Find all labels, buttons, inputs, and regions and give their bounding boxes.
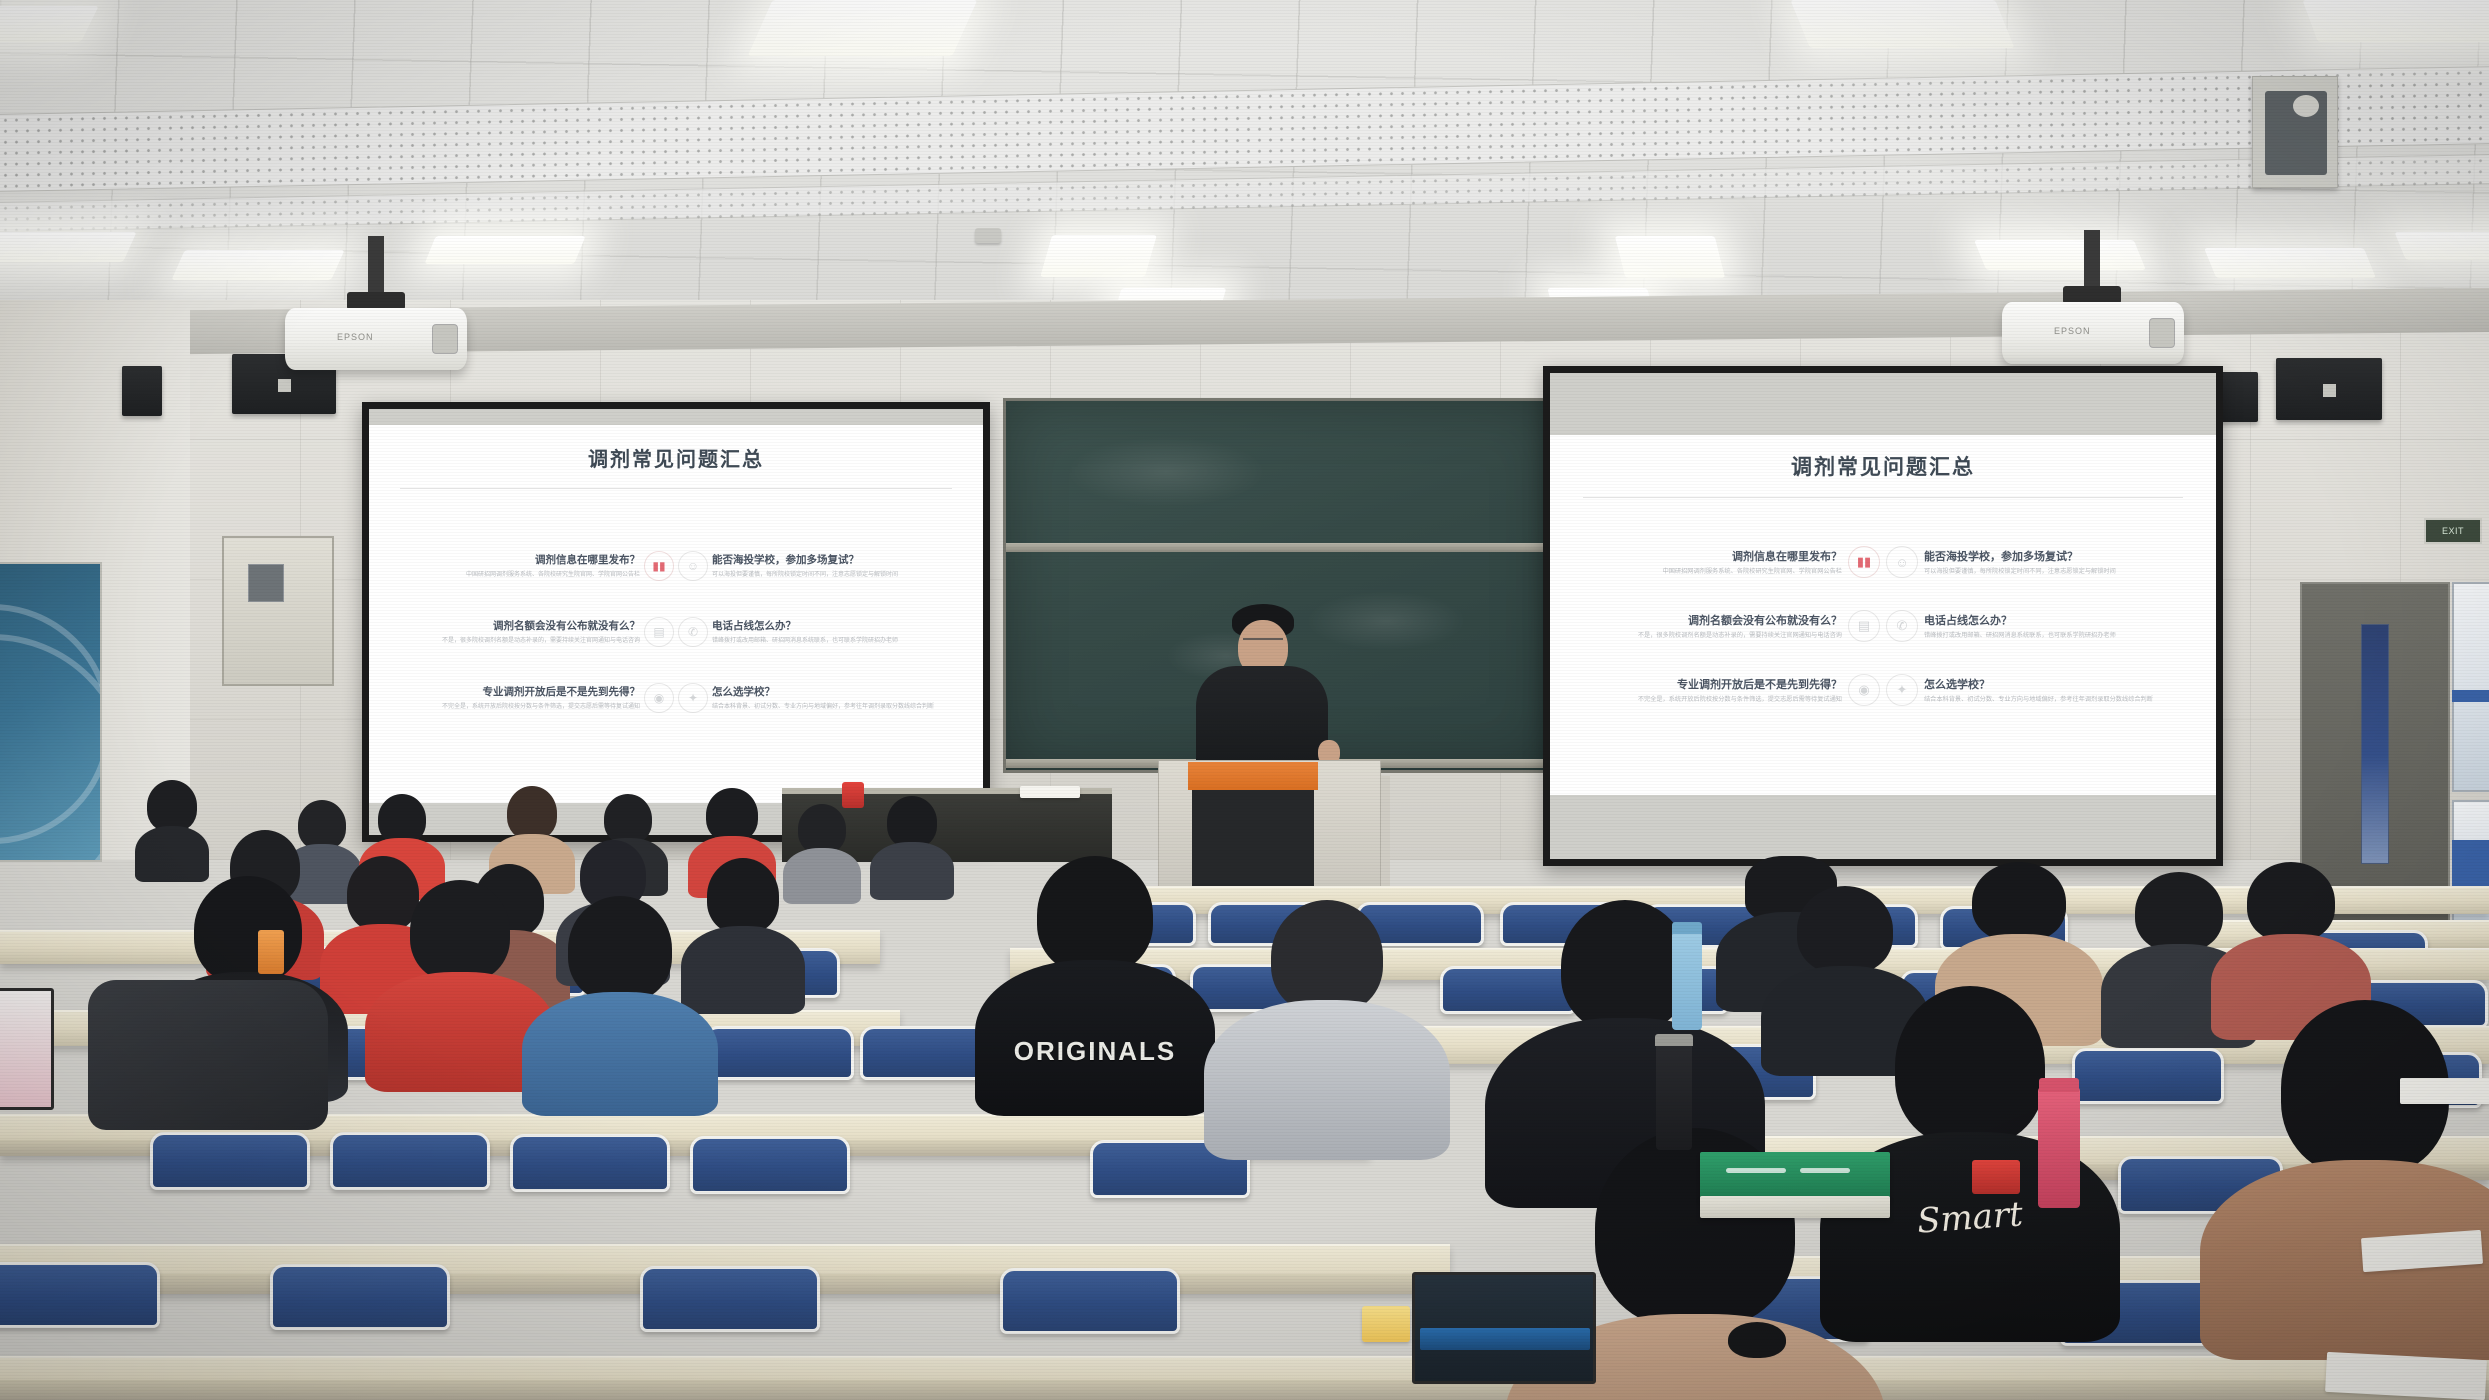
desk-row: [0, 1356, 2489, 1400]
jacket-script-text: Smart: [1916, 1194, 2024, 1241]
panel-meter: [248, 564, 285, 602]
chair[interactable]: [330, 1132, 490, 1190]
water-bottle-pink[interactable]: [2038, 1086, 2080, 1208]
audience-member: [2236, 862, 2346, 1022]
head: [798, 804, 846, 854]
hoodie-graphic-text: ORIGINALS: [1014, 1036, 1176, 1067]
compass-icon: ✦: [1886, 674, 1918, 706]
laptop-keyboard[interactable]: [1420, 1328, 1590, 1350]
ceiling-light-panel: [2302, 0, 2489, 42]
projector-brand-label: EPSON: [337, 332, 374, 342]
slide-question: 专业调剂开放后是不是先到先得？: [1576, 676, 1842, 692]
torso: [681, 926, 805, 1014]
corridor-railing: [2452, 690, 2489, 702]
clipboard-chart-icon: ▤: [644, 617, 674, 647]
backpack: [88, 980, 328, 1130]
clipboard-chart-icon: ▤: [1848, 610, 1880, 642]
snack-pack[interactable]: [1362, 1306, 1410, 1342]
exit-sign-label: EXIT: [2442, 526, 2464, 536]
slide-divider: [1583, 497, 2182, 498]
slide-detail: 不完全是，系统开放后院校按分数与条件筛选，提交志愿后需等待复试通知: [391, 703, 640, 712]
head: [378, 794, 426, 844]
projection-screen-right: 调剂常见问题汇总 调剂信息在哪里发布？ 中国研招网调剂服务系统、各院校研究生院官…: [1543, 366, 2223, 866]
slide-detail: 可以海投但要谨慎，每所院校锁定时间不同，注意志愿锁定与解锁时间: [712, 571, 961, 580]
slide-row: 调剂信息在哪里发布？ 中国研招网调剂服务系统、各院校研究生院官网、学院官网公告栏…: [1550, 546, 2216, 578]
audience-member: [560, 896, 680, 1086]
slide-detail: 不完全是，系统开放后院校按分数与条件筛选，提交志愿后需等待复试通知: [1576, 696, 1842, 705]
camera-body: [2265, 91, 2327, 175]
torso: [522, 992, 718, 1116]
slide-left: 调剂常见问题汇总 调剂信息在哪里发布？ 中国研招网调剂服务系统、各院校研究生院官…: [369, 425, 983, 803]
slide-detail: 可以海投但要谨慎，每所院校锁定时间不同，注意志愿锁定与解锁时间: [1924, 568, 2190, 577]
head: [568, 896, 672, 1002]
red-cup[interactable]: [1972, 1160, 2020, 1194]
audience-member: [790, 804, 854, 900]
podium-top-panel: [1188, 762, 1318, 790]
ceiling-light-panel: [1040, 235, 1157, 277]
head: [1895, 986, 2045, 1146]
ceiling-light-panel: [0, 232, 137, 262]
audience-member-originals: ORIGINALS: [1020, 856, 1170, 1076]
electrical-panel: [222, 536, 334, 686]
head: [1972, 862, 2066, 942]
chair[interactable]: [1000, 1268, 1180, 1334]
notebook-stack[interactable]: [1700, 1196, 1890, 1218]
smoke-detector-icon: [975, 228, 1001, 243]
projector-brand-label: EPSON: [2054, 326, 2091, 336]
slide-detail: 中国研招网调剂服务系统、各院校研究生院官网、学院官网公告栏: [1576, 568, 1842, 577]
head: [1037, 856, 1153, 974]
ceiling-light-panel: [1615, 236, 1725, 278]
bottle-cap: [1672, 922, 1702, 934]
audience-member: [700, 858, 786, 988]
camera-lens-icon: [2293, 95, 2319, 117]
screen-surface-left: 调剂常见问题汇总 调剂信息在哪里发布？ 中国研招网调剂服务系统、各院校研究生院官…: [369, 409, 983, 835]
blue-wall-poster: [0, 562, 102, 862]
slide-detail: 结合本科背景、初试分数、专业方向与地域偏好，参考往年调剂录取分数线综合判断: [1924, 696, 2190, 705]
ceiling-light-panel: [1974, 240, 2146, 270]
audience-member: Smart: [1880, 986, 2060, 1286]
laptop-screen-left[interactable]: [0, 988, 54, 1110]
chair[interactable]: [640, 1266, 820, 1332]
chart-bar-icon: ▮▮: [644, 551, 674, 581]
papers-on-desk[interactable]: [2325, 1352, 2487, 1400]
chalk-rail: [1006, 543, 1552, 552]
ceiling-camera: [2252, 76, 2338, 188]
audience-member: [1252, 900, 1402, 1120]
dot-circle-icon: ◉: [644, 683, 674, 713]
slide-right: 调剂常见问题汇总 调剂信息在哪里发布？ 中国研招网调剂服务系统、各院校研究生院官…: [1550, 435, 2216, 795]
slide-question: 能否海投学校，参加多场复试？: [712, 552, 961, 567]
ceiling-light-panel: [171, 250, 344, 280]
audience-member: [880, 796, 944, 892]
head: [1271, 900, 1383, 1014]
slide-question: 调剂名额会没有公布就没有么？: [391, 618, 640, 633]
slide-row: 专业调剂开放后是不是先到先得？ 不完全是，系统开放后院校按分数与条件筛选，提交志…: [1550, 674, 2216, 706]
chair[interactable]: [2072, 1048, 2224, 1104]
head: [887, 796, 937, 848]
slide-detail: 不是，很多院校调剂名额是动态补录的，需要持续关注官网通知与电话咨询: [391, 637, 640, 646]
torso: [1204, 1000, 1450, 1160]
chair[interactable]: [150, 1132, 310, 1190]
slide-row: 调剂名额会没有公布就没有么？ 不是，很多院校调剂名额是动态补录的，需要持续关注官…: [369, 617, 983, 647]
head: [707, 858, 779, 934]
torso: [870, 842, 954, 900]
slide-title: 调剂常见问题汇总: [369, 443, 983, 472]
smiley-icon: ☺: [678, 551, 708, 581]
slide-question: 电话占线怎么办？: [712, 618, 961, 633]
podium-side-wing: [1381, 776, 1390, 902]
slide-question: 调剂信息在哪里发布？: [1576, 548, 1842, 564]
head: [1797, 886, 1893, 974]
head: [706, 788, 758, 842]
projection-screen-left: 调剂常见问题汇总 调剂信息在哪里发布？ 中国研招网调剂服务系统、各院校研究生院官…: [362, 402, 990, 842]
phone-ringing-icon: ✆: [1886, 610, 1918, 642]
torso: [135, 826, 209, 882]
head: [507, 786, 557, 840]
bottle-cap: [2039, 1078, 2079, 1092]
chalk-smudge: [1066, 437, 1266, 507]
head: [1561, 900, 1689, 1032]
thermos-black[interactable]: [1656, 1040, 1692, 1150]
projector-mount-rod: [368, 236, 384, 294]
head: [2135, 872, 2223, 952]
slide-question: 能否海投学校，参加多场复试？: [1924, 548, 2190, 564]
wall-speaker: [2218, 372, 2258, 422]
slide-detail: 错峰拨打或改用邮箱、研招网消息系统联系，也可联系学院研招办老师: [712, 637, 961, 646]
papers-on-desk[interactable]: [1020, 786, 1080, 798]
head: [2247, 862, 2335, 942]
ceiling-light-panel: [2204, 248, 2376, 278]
slide-divider: [400, 488, 953, 489]
audience-member: [140, 780, 204, 876]
ceiling-light-panel: [2394, 232, 2489, 260]
head: [410, 880, 510, 982]
head: [604, 794, 652, 844]
slide-question: 怎么选学校？: [712, 684, 961, 699]
ceiling-light-panel: [748, 0, 978, 56]
phone-ringing-icon: ✆: [678, 617, 708, 647]
chair[interactable]: [704, 1026, 854, 1080]
slide-title: 调剂常见问题汇总: [1550, 451, 2216, 481]
chalk-smudge: [1306, 591, 1466, 651]
torso: [783, 848, 861, 904]
screen-surface-right: 调剂常见问题汇总 调剂信息在哪里发布？ 中国研招网调剂服务系统、各院校研究生院官…: [1550, 373, 2216, 859]
wall-speaker: [2276, 358, 2382, 420]
projector-mount-rod: [2084, 230, 2100, 288]
projector-lens-icon: [432, 324, 458, 354]
bottle-cap: [1655, 1034, 1693, 1046]
slide-detail: 不是，很多院校调剂名额是动态补录的，需要持续关注官网通知与电话咨询: [1576, 632, 1842, 641]
slide-question: 电话占线怎么办？: [1924, 612, 2190, 628]
dot-circle-icon: ◉: [1848, 674, 1880, 706]
desk-front-face: [0, 1380, 2489, 1400]
speaker-driver-icon: [2323, 384, 2336, 397]
speaker-driver-icon: [278, 379, 291, 392]
ceiling-light-panel: [1790, 0, 2014, 48]
corridor-window: [2452, 582, 2489, 792]
head: [194, 876, 302, 984]
door-window: [2361, 624, 2389, 864]
chart-bar-icon: ▮▮: [1848, 546, 1880, 578]
slide-row: 调剂信息在哪里发布？ 中国研招网调剂服务系统、各院校研究生院官网、学院官网公告栏…: [369, 551, 983, 581]
presenter-glasses-icon: [1243, 638, 1283, 646]
slide-detail: 错峰拨打或改用邮箱、研招网消息系统联系，也可联系学院研招办老师: [1924, 632, 2190, 641]
projector-right: EPSON: [2002, 302, 2184, 364]
projector-left: EPSON: [285, 308, 467, 370]
notebook-stack[interactable]: [1700, 1152, 1890, 1200]
chair[interactable]: [510, 1134, 670, 1192]
slide-row: 专业调剂开放后是不是先到先得？ 不完全是，系统开放后院校按分数与条件筛选，提交志…: [369, 683, 983, 713]
slide-question: 专业调剂开放后是不是先到先得？: [391, 684, 640, 699]
audience-member: [400, 880, 520, 1070]
compass-icon: ✦: [678, 683, 708, 713]
slide-question: 调剂信息在哪里发布？: [391, 552, 640, 567]
lecture-hall-photo: EXIT EPSON EPSON 调剂常见问题汇总: [0, 0, 2489, 1400]
smiley-icon: ☺: [1886, 546, 1918, 578]
wall-speaker: [122, 366, 162, 416]
ceiling-light-panel: [424, 236, 585, 264]
projector-lens-icon: [2149, 318, 2175, 348]
computer-mouse[interactable]: [1728, 1322, 1786, 1358]
papers-on-desk[interactable]: [2400, 1078, 2489, 1104]
slide-question: 调剂名额会没有公布就没有么？: [1576, 612, 1842, 628]
small-orange-cup[interactable]: [258, 930, 284, 974]
notebook-stripe: [1800, 1168, 1850, 1173]
water-bottle-blue[interactable]: [1672, 930, 1702, 1030]
slide-row: 调剂名额会没有公布就没有么？ 不是，很多院校调剂名额是动态补录的，需要持续关注官…: [1550, 610, 2216, 642]
slide-detail: 结合本科背景、初试分数、专业方向与地域偏好，参考往年调剂录取分数线综合判断: [712, 703, 961, 712]
chair[interactable]: [0, 1262, 160, 1328]
head: [147, 780, 197, 832]
chair[interactable]: [690, 1136, 850, 1194]
chair[interactable]: [270, 1264, 450, 1330]
slide-question: 怎么选学校？: [1924, 676, 2190, 692]
slide-detail: 中国研招网调剂服务系统、各院校研究生院官网、学院官网公告栏: [391, 571, 640, 580]
notebook-stripe: [1726, 1168, 1786, 1173]
exit-sign: EXIT: [2424, 518, 2482, 544]
